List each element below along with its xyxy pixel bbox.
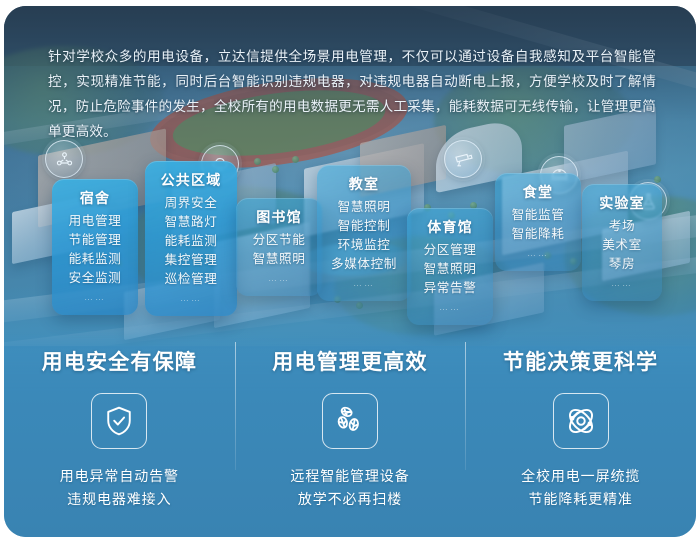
feature-line-2: 节能降耗更精准	[521, 488, 640, 511]
pin-item: 智能降耗	[505, 225, 571, 244]
feature-efficiency: 用电管理更高效	[235, 332, 466, 537]
pin-gymnasium[interactable]: 体育馆 分区管理 智慧照明 异常告警 ……	[407, 208, 493, 325]
pin-item: 美术室	[592, 236, 652, 255]
feature-title: 节能决策更科学	[503, 346, 658, 376]
pin-item: 智慧照明	[327, 198, 401, 217]
pin-ellipsis: ……	[592, 276, 652, 290]
shield-check-icon	[102, 404, 136, 438]
atom-icon	[563, 403, 599, 439]
feature-row: 用电安全有保障 用电异常自动告警 违规电器难接入 用电管理更高效	[4, 332, 696, 537]
pin-title: 实验室	[592, 193, 652, 213]
pin-classroom[interactable]: 教室 智慧照明 智能控制 环境监控 多媒体控制 ……	[317, 165, 411, 301]
pin-item: 多媒体控制	[327, 255, 401, 274]
pin-title: 食堂	[505, 182, 571, 202]
pin-item: 节能管理	[62, 231, 128, 250]
pin-title: 体育馆	[417, 217, 483, 237]
infographic-card: 针对学校众多的用电设备，立达信提供全场景用电管理，不仅可以通过设备自我感知及平台…	[4, 6, 696, 537]
pin-item: 琴房	[592, 255, 652, 274]
leaves-icon-box	[322, 393, 378, 449]
pin-item: 智慧照明	[246, 250, 312, 269]
shield-check-icon-box	[91, 393, 147, 449]
pin-title: 公共区域	[155, 170, 227, 190]
pin-library[interactable]: 图书馆 分区节能 智慧照明 ……	[236, 198, 322, 296]
feature-safety: 用电安全有保障 用电异常自动告警 违规电器难接入	[4, 332, 235, 537]
pin-ellipsis: ……	[327, 276, 401, 290]
pin-item: 智能控制	[327, 217, 401, 236]
pin-ellipsis: ……	[505, 246, 571, 260]
pin-item: 巡检管理	[155, 270, 227, 289]
pin-public-area[interactable]: 公共区域 周界安全 智慧路灯 能耗监测 集控管理 巡检管理 ……	[145, 161, 237, 316]
leaves-icon	[333, 404, 367, 438]
pin-ellipsis: ……	[417, 300, 483, 314]
infographic-page: 针对学校众多的用电设备，立达信提供全场景用电管理，不仅可以通过设备自我感知及平台…	[0, 0, 700, 545]
pin-ellipsis: ……	[246, 271, 312, 285]
pin-item: 智慧照明	[417, 260, 483, 279]
feature-description: 用电异常自动告警 违规电器难接入	[60, 465, 179, 511]
pin-title: 宿舍	[62, 188, 128, 208]
pin-item: 能耗监测	[155, 232, 227, 251]
pin-item: 智能监管	[505, 206, 571, 225]
pin-title: 图书馆	[246, 207, 312, 227]
pin-title: 教室	[327, 174, 401, 194]
pin-item: 集控管理	[155, 251, 227, 270]
feature-line-2: 违规电器难接入	[60, 488, 179, 511]
feature-decision: 节能决策更科学 全校用电一屏统揽 节能降耗更精准	[465, 332, 696, 537]
feature-title: 用电安全有保障	[42, 346, 197, 376]
pin-item: 用电管理	[62, 212, 128, 231]
feature-line-1: 远程智能管理设备	[290, 465, 409, 488]
pin-item: 分区节能	[246, 231, 312, 250]
pin-item: 能耗监测	[62, 250, 128, 269]
feature-title: 用电管理更高效	[272, 346, 427, 376]
feature-line-2: 放学不必再扫楼	[290, 488, 409, 511]
location-pins: 宿舍 用电管理 节能管理 能耗监测 安全监测 …… 公共区域 周界安全 智慧路灯…	[4, 6, 696, 346]
pin-laboratory[interactable]: 实验室 考场 美术室 琴房 ……	[582, 184, 662, 301]
pin-item: 安全监测	[62, 269, 128, 288]
pin-item: 考场	[592, 217, 652, 236]
pin-item: 分区管理	[417, 241, 483, 260]
feature-description: 远程智能管理设备 放学不必再扫楼	[290, 465, 409, 511]
pin-item: 周界安全	[155, 194, 227, 213]
atom-icon-box	[553, 393, 609, 449]
feature-line-1: 用电异常自动告警	[60, 465, 179, 488]
pin-item: 智慧路灯	[155, 213, 227, 232]
feature-line-1: 全校用电一屏统揽	[521, 465, 640, 488]
feature-description: 全校用电一屏统揽 节能降耗更精准	[521, 465, 640, 511]
pin-ellipsis: ……	[155, 291, 227, 305]
pin-dormitory[interactable]: 宿舍 用电管理 节能管理 能耗监测 安全监测 ……	[52, 179, 138, 315]
pin-canteen[interactable]: 食堂 智能监管 智能降耗 ……	[495, 173, 581, 271]
pin-ellipsis: ……	[62, 290, 128, 304]
pin-item: 异常告警	[417, 279, 483, 298]
pin-item: 环境监控	[327, 236, 401, 255]
